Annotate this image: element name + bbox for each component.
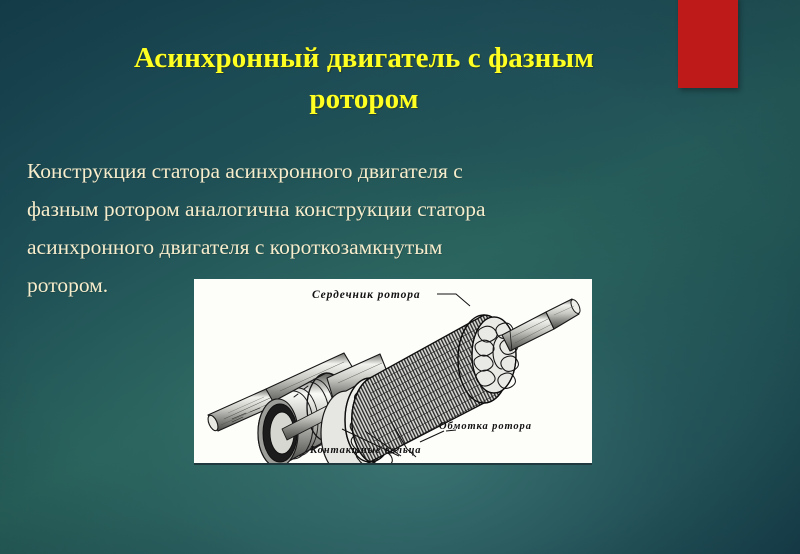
label-rotor-winding: Обмотка ротора	[439, 421, 532, 432]
rotor-illustration: Сердечник ротора Контактные кольца Обмот…	[194, 279, 592, 463]
slide-title-line-1: Асинхронный двигатель с фазным	[60, 38, 668, 79]
label-slip-rings: Контактные кольца	[309, 445, 421, 456]
presentation-slide: Асинхронный двигатель с фазным ротором К…	[0, 0, 800, 554]
label-rotor-core: Сердечник ротора	[312, 289, 421, 301]
body-line-3: асинхронного двигателя с короткозамкнуты…	[27, 228, 687, 266]
body-line-2: фазным ротором аналогична конструкции ст…	[27, 190, 687, 228]
body-line-1: Конструкция статора асинхронного двигате…	[27, 152, 687, 190]
red-accent-rectangle	[678, 0, 738, 88]
slide-title-line-2: ротором	[60, 79, 668, 120]
wound-rotor-diagram: Сердечник ротора Контактные кольца Обмот…	[194, 279, 592, 465]
slide-title: Асинхронный двигатель с фазным ротором	[60, 38, 668, 120]
